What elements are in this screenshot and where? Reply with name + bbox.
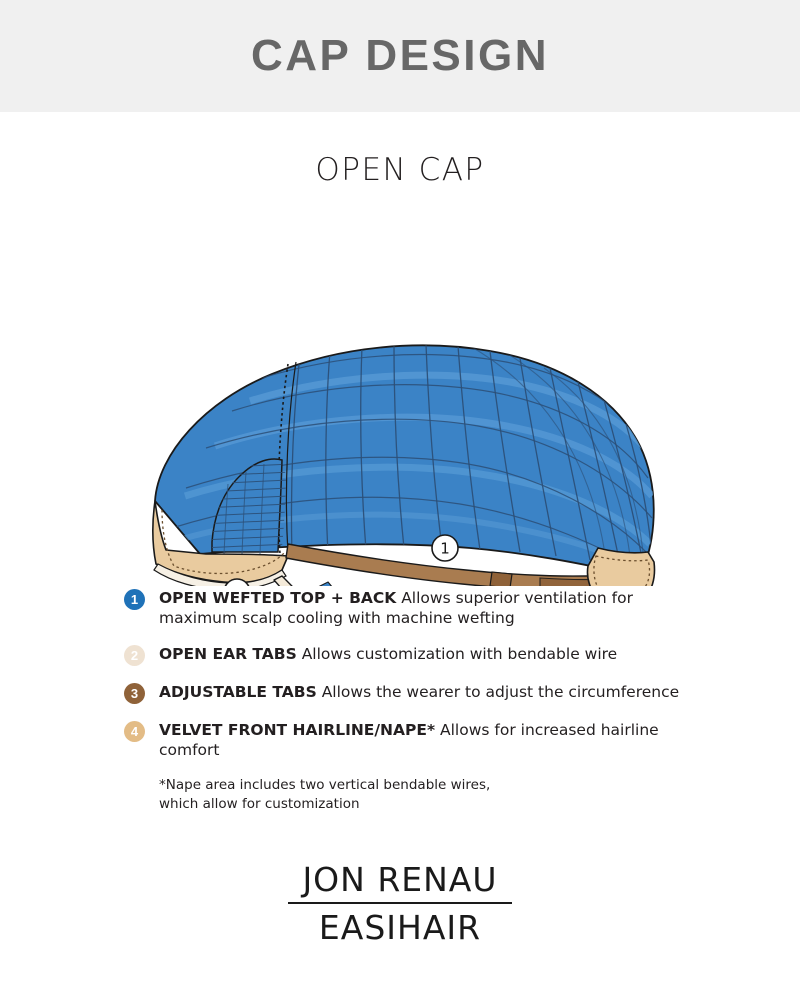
legend-item-2: 2 OPEN EAR TABS Allows customization wit…	[0, 644, 800, 666]
legend-badge-1: 1	[124, 589, 145, 610]
legend-desc-3: Allows the wearer to adjust the circumfe…	[317, 683, 679, 701]
legend-term-3: ADJUSTABLE TABS	[159, 683, 317, 701]
legend-item-1: 1 OPEN WEFTED TOP + BACK Allows superior…	[0, 588, 800, 628]
legend-badge-2: 2	[124, 645, 145, 666]
cap-diagram: 1 1 4 2 3 4	[0, 196, 800, 586]
legend-text-1: OPEN WEFTED TOP + BACK Allows superior v…	[159, 588, 700, 628]
legend-item-4: 4 VELVET FRONT HAIRLINE/NAPE* Allows for…	[0, 720, 800, 760]
legend-term-4: VELVET FRONT HAIRLINE/NAPE*	[159, 721, 435, 739]
brand-name-secondary: EASIHAIR	[0, 908, 800, 947]
footnote-line-2: which allow for customization	[159, 795, 800, 814]
footnote-line-1: *Nape area includes two vertical bendabl…	[159, 776, 800, 795]
legend-list: 1 OPEN WEFTED TOP + BACK Allows superior…	[0, 588, 800, 814]
legend-footnote: *Nape area includes two vertical bendabl…	[0, 776, 800, 814]
legend-text-3: ADJUSTABLE TABS Allows the wearer to adj…	[159, 682, 679, 702]
legend-text-2: OPEN EAR TABS Allows customization with …	[159, 644, 617, 664]
legend-badge-3: 3	[124, 683, 145, 704]
cap-type-subtitle: OPEN CAP	[315, 152, 484, 188]
legend-badge-4: 4	[124, 721, 145, 742]
brand-divider	[288, 902, 512, 904]
svg-text:1: 1	[440, 540, 450, 558]
legend-desc-2: Allows customization with bendable wire	[297, 645, 617, 663]
legend-term-1: OPEN WEFTED TOP + BACK	[159, 589, 396, 607]
legend-item-3: 3 ADJUSTABLE TABS Allows the wearer to a…	[0, 682, 800, 704]
page-header: CAP DESIGN	[0, 0, 800, 112]
page-title: CAP DESIGN	[251, 31, 549, 81]
open-ear-tab	[274, 576, 396, 586]
callout-1-top-back: 1	[432, 535, 458, 561]
svg-text:1: 1	[232, 584, 242, 587]
cap-illustration-svg: 1 1 4 2 3 4	[0, 196, 800, 586]
velvet-nape	[587, 548, 654, 586]
brand-logo: JON RENAU EASIHAIR	[0, 860, 800, 947]
subtitle-container: OPEN CAP	[0, 152, 800, 188]
brand-name-primary: JON RENAU	[0, 860, 800, 899]
legend-text-4: VELVET FRONT HAIRLINE/NAPE* Allows for i…	[159, 720, 700, 760]
legend-term-2: OPEN EAR TABS	[159, 645, 297, 663]
